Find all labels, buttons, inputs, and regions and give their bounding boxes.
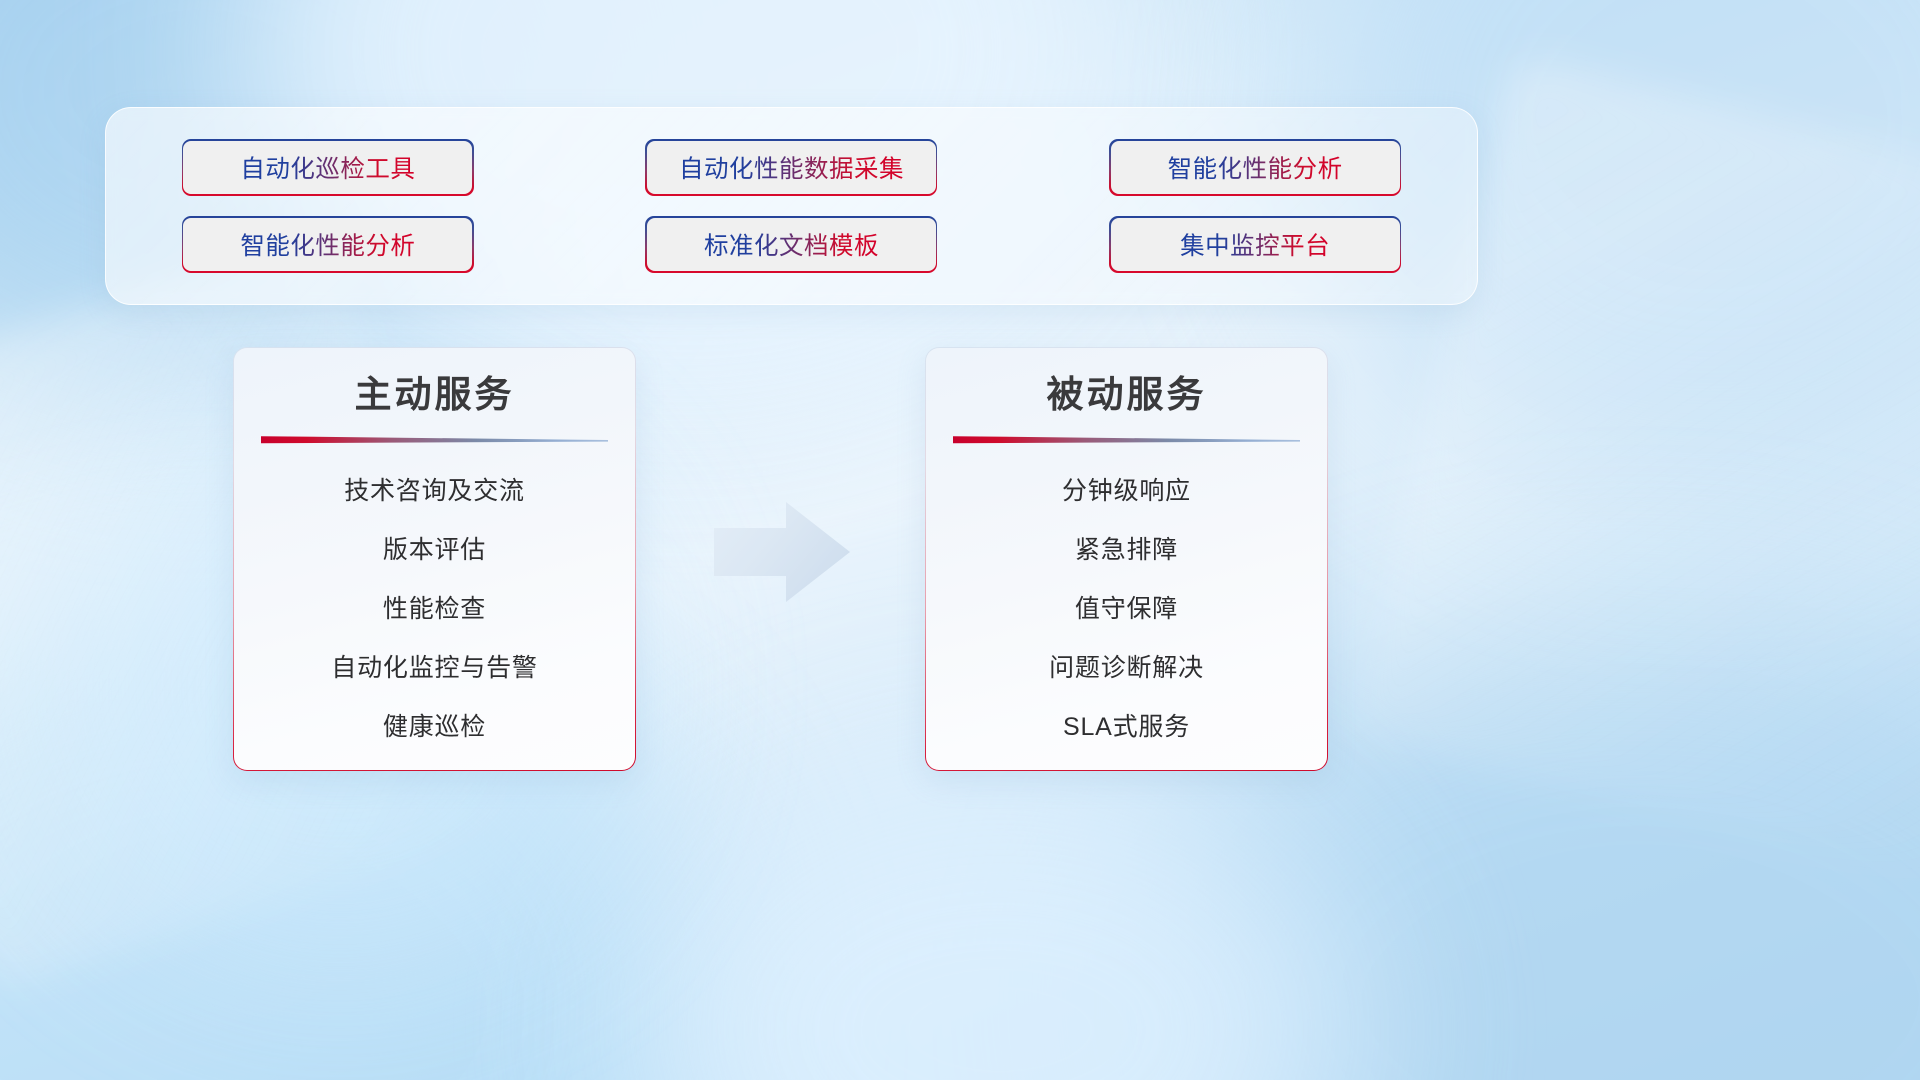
gradient-divider <box>953 435 1300 444</box>
capability-pill-label: 智能化性能分析 <box>1168 150 1343 185</box>
service-card-body: 被动服务 分钟级响应 紧急排障 值守保障 <box>926 348 1326 769</box>
capability-pill[interactable]: 自动化性能数据采集 <box>645 139 937 196</box>
capability-pill-body: 智能化性能分析 <box>183 218 472 272</box>
capability-pill-label: 自动化性能数据采集 <box>679 150 904 185</box>
service-card-title: 主动服务 <box>355 372 515 418</box>
service-list-item: 自动化监控与告警 <box>331 643 537 694</box>
service-list-item: 健康巡检 <box>383 702 486 753</box>
right-arrow-icon <box>712 500 852 604</box>
capability-pill[interactable]: 标准化文档模板 <box>645 216 937 273</box>
capability-pill-body: 标准化文档模板 <box>647 218 936 272</box>
capability-pill[interactable]: 智能化性能分析 <box>1109 139 1401 196</box>
capability-pill[interactable]: 集中监控平台 <box>1109 216 1401 273</box>
service-list-item: 紧急排障 <box>1075 525 1178 576</box>
capability-pill-label: 标准化文档模板 <box>704 227 879 262</box>
service-list-item: 问题诊断解决 <box>1049 643 1204 694</box>
capability-pill-body: 自动化性能数据采集 <box>647 141 936 195</box>
service-list-item: 分钟级响应 <box>1062 466 1191 517</box>
capability-pill-grid: 自动化巡检工具 自动化性能数据采集 智能化性能分析 智能化性能分析 标准化文档模… <box>176 138 1407 274</box>
capability-pill-label: 集中监控平台 <box>1180 227 1330 262</box>
service-list-item: 技术咨询及交流 <box>344 466 525 517</box>
capability-pill-body: 智能化性能分析 <box>1111 141 1400 195</box>
service-item-list: 分钟级响应 紧急排障 值守保障 问题诊断解决 SLA式服务 <box>926 466 1326 753</box>
service-list-item: 性能检查 <box>383 584 486 635</box>
service-item-list: 技术咨询及交流 版本评估 性能检查 自动化监控与告警 健康巡检 <box>234 466 634 753</box>
capability-panel: 自动化巡检工具 自动化性能数据采集 智能化性能分析 智能化性能分析 标准化文档模… <box>105 107 1478 305</box>
service-card-title: 被动服务 <box>1047 372 1207 418</box>
service-list-item: 版本评估 <box>383 525 486 576</box>
service-list-item: SLA式服务 <box>1063 702 1190 753</box>
capability-pill-label: 自动化巡检工具 <box>240 150 415 185</box>
service-card-proactive[interactable]: 主动服务 技术咨询及交流 版本评估 性能检查 <box>233 347 636 771</box>
capability-pill-body: 集中监控平台 <box>1111 218 1400 272</box>
capability-pill[interactable]: 智能化性能分析 <box>182 216 474 273</box>
capability-pill-body: 自动化巡检工具 <box>183 141 472 195</box>
capability-pill[interactable]: 自动化巡检工具 <box>182 139 474 196</box>
service-card-reactive[interactable]: 被动服务 分钟级响应 紧急排障 值守保障 <box>925 347 1328 771</box>
service-list-item: 值守保障 <box>1075 584 1178 635</box>
capability-pill-label: 智能化性能分析 <box>240 227 415 262</box>
gradient-divider <box>261 435 608 444</box>
service-card-body: 主动服务 技术咨询及交流 版本评估 性能检查 <box>234 348 634 769</box>
